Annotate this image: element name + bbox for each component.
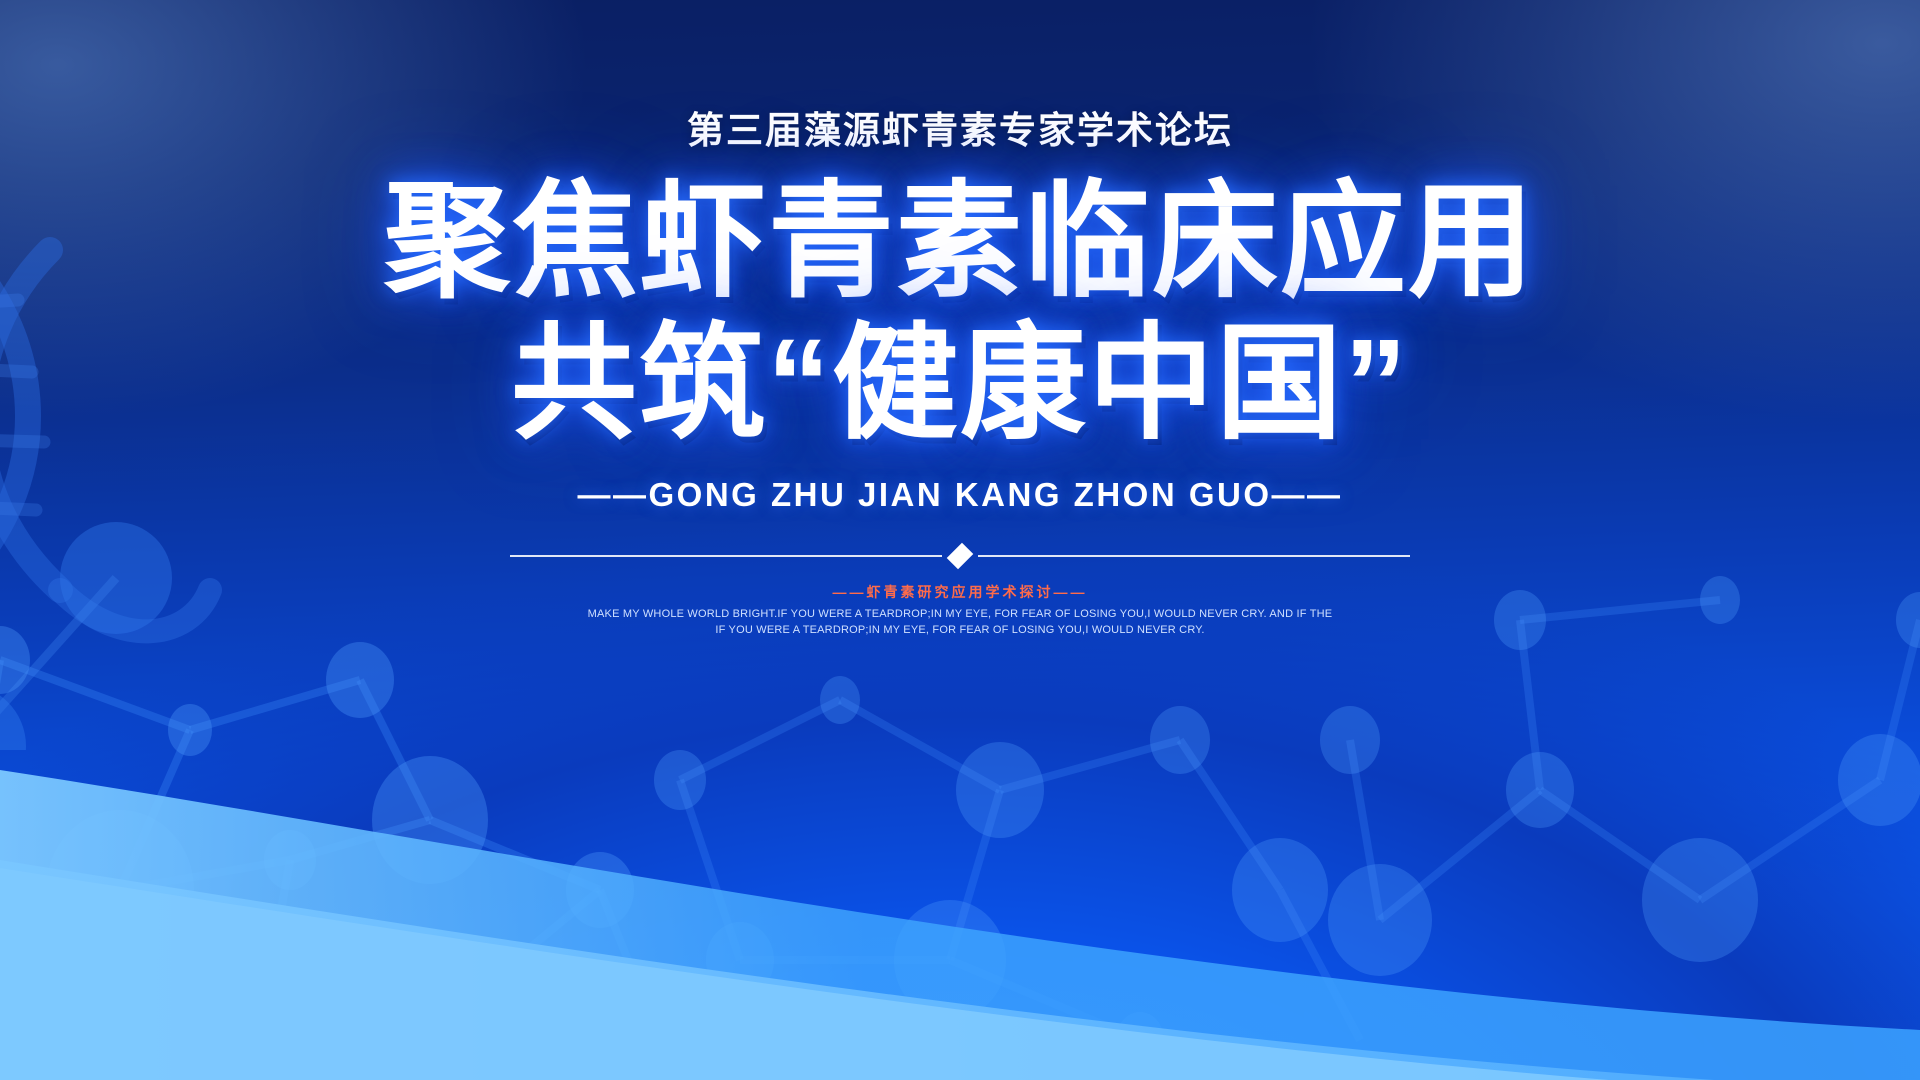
title-line-2: 共筑“健康中国” (384, 317, 1536, 451)
fineprint-line-1: MAKE MY WHOLE WORLD BRIGHT.IF YOU WERE A… (588, 607, 1333, 623)
english-fineprint: MAKE MY WHOLE WORLD BRIGHT.IF YOU WERE A… (588, 607, 1333, 639)
divider-bar-left (510, 555, 942, 557)
poster-canvas: 第三届藻源虾青素专家学术论坛 聚焦虾青素临床应用 共筑“健康中国” ——GONG… (0, 0, 1920, 1080)
ornamental-divider (510, 548, 1410, 564)
event-subtitle: 第三届藻源虾青素专家学术论坛 (687, 112, 1233, 149)
poster-content: 第三届藻源虾青素专家学术论坛 聚焦虾青素临床应用 共筑“健康中国” ——GONG… (0, 0, 1920, 1080)
title-pinyin: ——GONG ZHU JIAN KANG ZHON GUO—— (577, 476, 1342, 514)
divider-bar-right (978, 555, 1410, 557)
main-title: 聚焦虾青素临床应用 共筑“健康中国” (384, 175, 1536, 450)
fineprint-line-2: IF YOU WERE A TEARDROP;IN MY EYE, FOR FE… (588, 623, 1333, 639)
theme-tagline: ——虾青素研究应用学术探讨—— (833, 582, 1088, 602)
title-line-1: 聚焦虾青素临床应用 (384, 175, 1536, 309)
diamond-icon (947, 543, 974, 570)
